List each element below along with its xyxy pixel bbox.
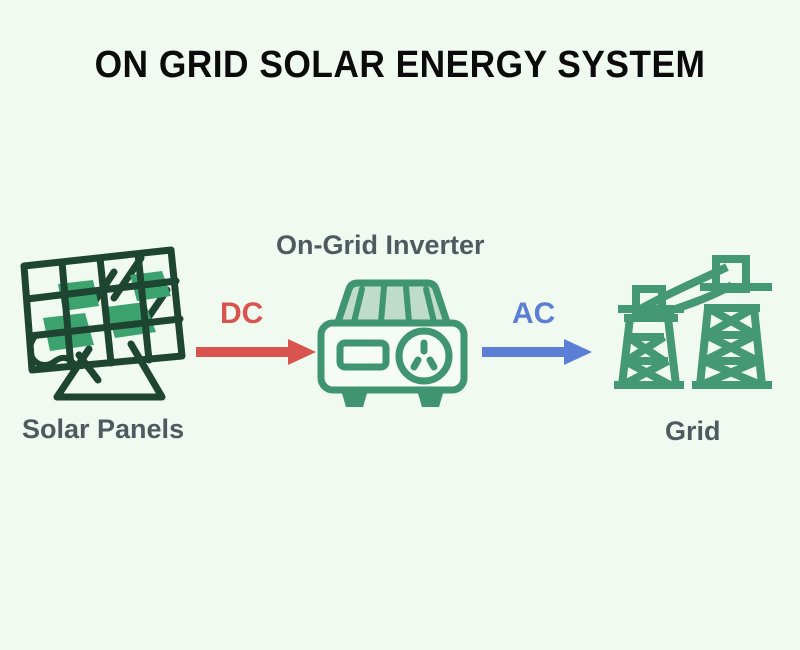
- ac-arrow-right-icon: [482, 337, 594, 372]
- ac-flow-label: AC: [512, 297, 555, 331]
- on-grid-inverter-label: On-Grid Inverter: [276, 230, 485, 261]
- dc-arrow-right-icon: [196, 337, 318, 372]
- grid-label: Grid: [665, 416, 721, 447]
- solar-panels-label: Solar Panels: [22, 414, 184, 445]
- inverter-vent-top: [337, 283, 448, 325]
- page-title: ON GRID SOLAR ENERGY SYSTEM: [28, 44, 772, 87]
- solar-panel-icon: [10, 245, 210, 415]
- inverter-icon: [305, 275, 480, 420]
- power-tower-icon: [612, 245, 787, 400]
- panel-face: [24, 250, 182, 370]
- diagram-canvas: ON GRID SOLAR ENERGY SYSTEM: [0, 0, 800, 650]
- dc-flow-label: DC: [220, 297, 263, 331]
